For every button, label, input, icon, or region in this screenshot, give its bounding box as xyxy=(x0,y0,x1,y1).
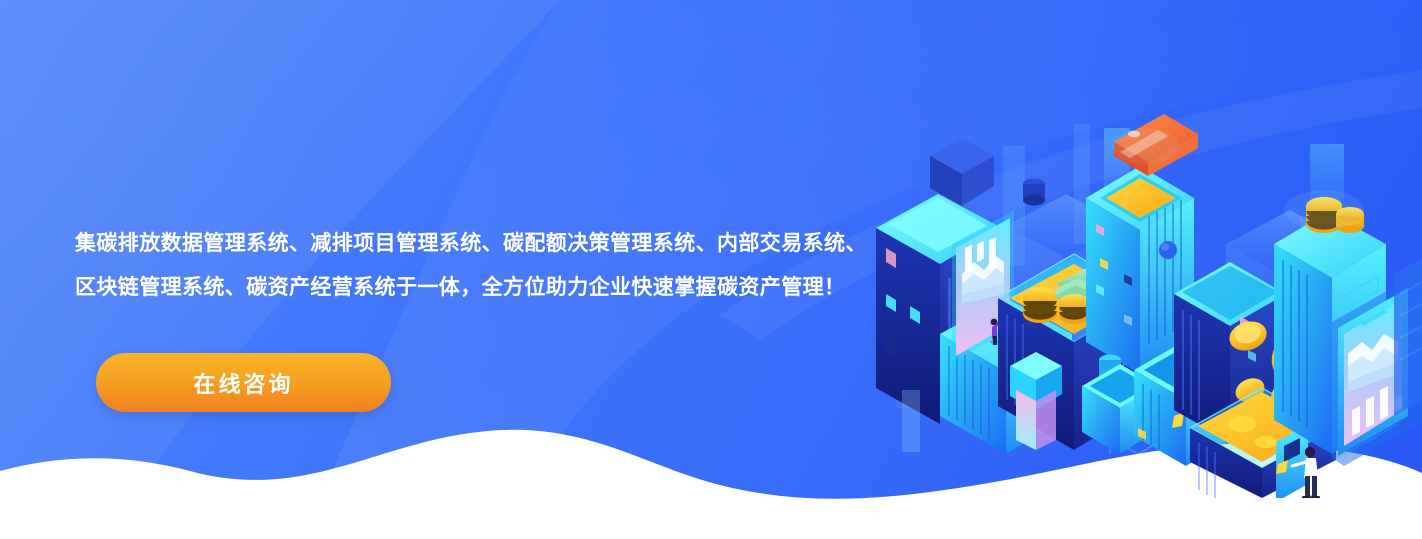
hero-copy-line-2: 区块链管理系统、碳资产经营系统于一体，全方位助力企业快速掌握碳资产管理！ xyxy=(75,266,855,310)
hero-banner: 集碳排放数据管理系统、减排项目管理系统、碳配额决策管理系统、内部交易系统、 区块… xyxy=(0,0,1422,539)
online-consult-button[interactable]: 在线咨询 xyxy=(96,353,391,412)
hero-copy-line-1: 集碳排放数据管理系统、减排项目管理系统、碳配额决策管理系统、内部交易系统、 xyxy=(75,222,855,266)
hero-copy: 集碳排放数据管理系统、减排项目管理系统、碳配额决策管理系统、内部交易系统、 区块… xyxy=(75,222,855,310)
